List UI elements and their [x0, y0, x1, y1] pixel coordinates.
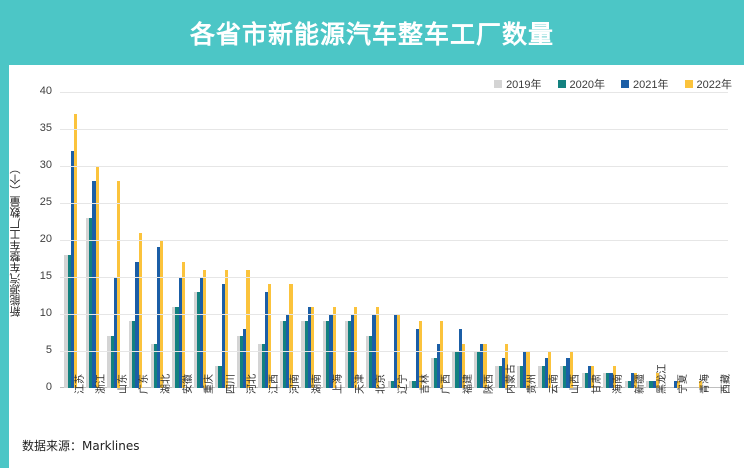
bar[interactable]	[182, 262, 185, 388]
y-axis-tick-label: 40	[16, 85, 60, 97]
legend-label: 2021年	[633, 76, 668, 92]
legend-label: 2019年	[506, 76, 541, 92]
bar[interactable]	[74, 114, 77, 388]
gridline	[60, 314, 728, 315]
y-axis-tick-label: 0	[16, 381, 60, 393]
y-axis-tick-label: 20	[16, 233, 60, 245]
x-axis-tick-label: 西藏	[717, 374, 732, 394]
legend-label: 2020年	[570, 76, 605, 92]
source-note: 数据来源：Marklines	[22, 437, 140, 454]
y-axis-tick-label: 30	[16, 159, 60, 171]
page-title: 各省市新能源汽车整车工厂数量	[0, 0, 744, 65]
legend-swatch-icon	[558, 80, 566, 88]
gridline	[60, 92, 728, 93]
gridline	[60, 240, 728, 241]
y-axis-tick-label: 25	[16, 196, 60, 208]
y-axis-tick-label: 15	[16, 270, 60, 282]
gridline	[60, 351, 728, 352]
y-axis-tick-label: 10	[16, 307, 60, 319]
plot-area: 江苏浙江山东广东湖北安徽重庆四川河北江西河南湖南上海天津北京辽宁吉林广西福建陕西…	[60, 92, 728, 388]
y-axis-tick-label: 5	[16, 344, 60, 356]
bar[interactable]	[268, 284, 271, 388]
bar[interactable]	[225, 270, 228, 388]
legend-item[interactable]: 2019年	[494, 76, 541, 92]
legend-label: 2022年	[697, 76, 732, 92]
legend-swatch-icon	[685, 80, 693, 88]
bar[interactable]	[246, 270, 249, 388]
legend-item[interactable]: 2022年	[685, 76, 732, 92]
legend-swatch-icon	[494, 80, 502, 88]
legend-item[interactable]: 2020年	[558, 76, 605, 92]
chart-page: 各省市新能源汽车整车工厂数量 2019年2020年2021年2022年 新能源汽…	[0, 0, 744, 468]
legend-item[interactable]: 2021年	[621, 76, 668, 92]
bar[interactable]	[289, 284, 292, 388]
gridline	[60, 166, 728, 167]
gridline	[60, 129, 728, 130]
chart-legend: 2019年2020年2021年2022年	[494, 76, 732, 92]
y-axis-tick-label: 35	[16, 122, 60, 134]
legend-swatch-icon	[621, 80, 629, 88]
bar[interactable]	[203, 270, 206, 388]
bar[interactable]	[139, 233, 142, 388]
gridline	[60, 203, 728, 204]
bar[interactable]	[117, 181, 120, 388]
title-banner: 各省市新能源汽车整车工厂数量	[0, 0, 744, 65]
gridline	[60, 277, 728, 278]
